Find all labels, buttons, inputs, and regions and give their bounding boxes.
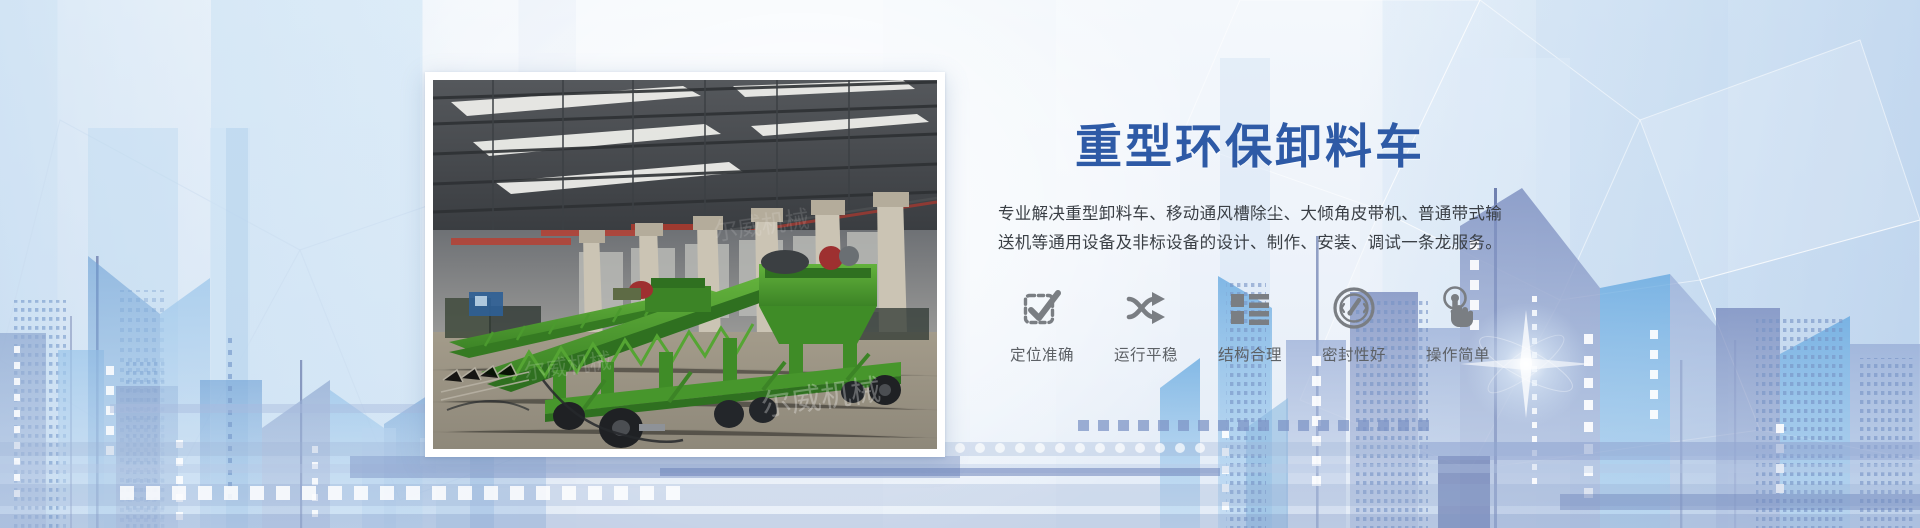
hand-touch-icon (1435, 285, 1481, 331)
feature-item-smooth-operation[interactable]: 运行平稳 (1094, 285, 1198, 365)
check-box-icon (1019, 285, 1065, 331)
feature-item-sealing[interactable]: 密封性好 (1302, 285, 1406, 365)
warehouse-conveyor-illustration: 尔威机械 尔威机械 尔威机械 (433, 80, 937, 449)
list-blocks-icon (1227, 285, 1273, 331)
feature-item-positioning[interactable]: 定位准确 (990, 285, 1094, 365)
seal-gauge-icon (1331, 285, 1377, 331)
shuffle-arrows-icon (1123, 285, 1169, 331)
feature-item-easy-operation[interactable]: 操作简单 (1406, 285, 1510, 365)
feature-label: 定位准确 (1010, 343, 1074, 365)
vertical-bands (0, 0, 1920, 528)
product-photo-card[interactable]: 尔威机械 尔威机械 尔威机械 (425, 72, 945, 457)
feature-label: 密封性好 (1322, 343, 1386, 365)
feature-item-structure[interactable]: 结构合理 (1198, 285, 1302, 365)
feature-label: 运行平稳 (1114, 343, 1178, 365)
left-wash (0, 0, 460, 528)
banner-content: 重型环保卸料车 专业解决重型卸料车、移动通风槽除尘、大倾角皮带机、普通带式输送机… (990, 120, 1510, 365)
feature-label: 结构合理 (1218, 343, 1282, 365)
polygon-facets (0, 0, 1920, 528)
banner-description: 专业解决重型卸料车、移动通风槽除尘、大倾角皮带机、普通带式输送机等通用设备及非标… (990, 200, 1510, 259)
feature-label: 操作简单 (1426, 343, 1490, 365)
background-gradient (0, 0, 1920, 528)
page-title: 重型环保卸料车 (990, 120, 1510, 174)
bottom-decorative-bands (0, 398, 1920, 528)
product-photo: 尔威机械 尔威机械 尔威机械 (433, 80, 937, 449)
hero-banner: 尔威机械 尔威机械 尔威机械 重型环保卸料车 专业解决重型卸料车、移动通风槽除尘… (0, 0, 1920, 528)
feature-list: 定位准确 运行平稳 (990, 285, 1510, 365)
